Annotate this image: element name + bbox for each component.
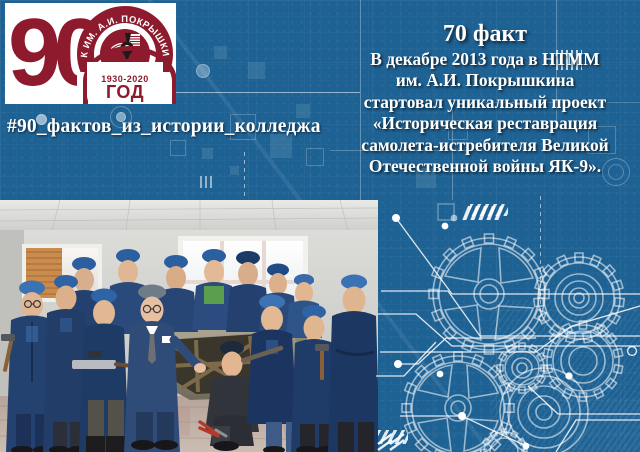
fact-line: стартовал уникальный проект [332,92,638,113]
fact-text-block: 70 факт В декабре 2013 года в НТММ им. А… [332,20,638,177]
background-square [214,46,227,59]
background-square-outline [306,148,324,166]
gear-blueprint-icon [376,196,640,452]
fact-line: Отечественной войны ЯК-9». [332,156,638,177]
background-square-outline [170,140,186,156]
group-photo-illustration [0,200,378,452]
fact-body: В декабре 2013 года в НТММ им. А.И. Покр… [332,49,638,177]
fact-line: В декабре 2013 года в НТММ [332,49,638,70]
background-square [202,148,213,159]
background-square [248,62,265,79]
logo-seal: НТК ИМ. А.И. ПОКРЫШКИНА [77,6,173,102]
fact-line: «Историческая реставрация [332,113,638,134]
group-photo [0,200,378,452]
background-square [230,166,239,175]
poster-canvas: 90 НТК ИМ. А.И. ПОКРЫШКИНА [0,0,640,452]
fact-line: самолета-истребителя Великой [332,135,638,156]
background-bar-marks [200,176,214,188]
college-logo: 90 НТК ИМ. А.И. ПОКРЫШКИНА [5,3,176,104]
seal-year-word-label: ГОД [77,82,173,103]
fact-title: 70 факт [332,20,638,48]
hashtag-label: #90_фактов_из_истории_колледжа [7,116,327,138]
background-connector-line [160,92,360,93]
gear-blueprint-graphic [376,196,640,452]
fact-line: им. А.И. Покрышкина [332,70,638,91]
background-circle-filled [196,64,210,78]
background-dashed-line [244,152,245,200]
